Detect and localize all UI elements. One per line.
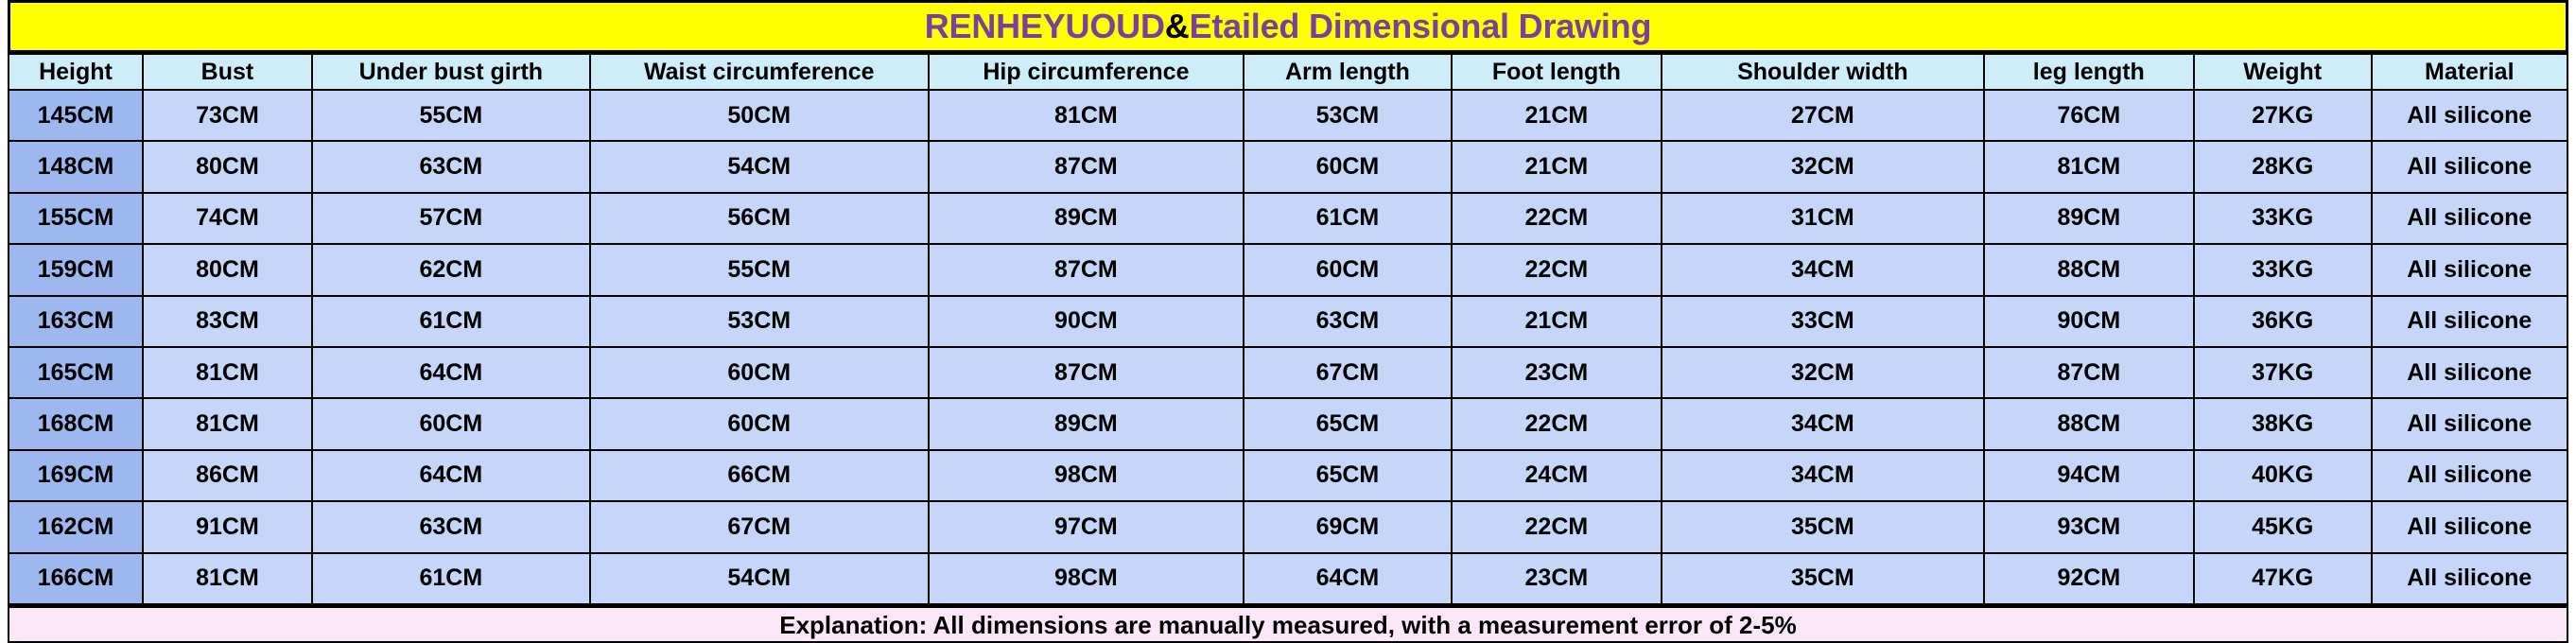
table-cell: 27CM <box>1662 90 1984 141</box>
table-cell: 32CM <box>1662 141 1984 192</box>
column-header-height: Height <box>9 54 143 90</box>
column-header-material: Material <box>2372 54 2567 90</box>
table-cell: 69CM <box>1244 501 1452 552</box>
table-cell: 98CM <box>929 450 1244 501</box>
table-cell: 54CM <box>590 553 929 604</box>
table-cell: 65CM <box>1244 398 1452 449</box>
table-cell: 55CM <box>590 244 929 295</box>
table-cell: 81CM <box>143 398 312 449</box>
table-cell: 35CM <box>1662 553 1984 604</box>
table-cell: 23CM <box>1452 553 1662 604</box>
table-cell: 81CM <box>143 553 312 604</box>
table-cell: 169CM <box>9 450 143 501</box>
table-cell: 87CM <box>1984 347 2194 398</box>
column-header-hip-circumference: Hip circumference <box>929 54 1244 90</box>
table-cell: 60CM <box>590 347 929 398</box>
table-cell: 90CM <box>1984 296 2194 347</box>
table-cell: 87CM <box>929 141 1244 192</box>
explanation-bar: Explanation: All dimensions are manually… <box>8 605 2568 643</box>
column-header-shoulder-width: Shoulder width <box>1662 54 1984 90</box>
table-cell: All silicone <box>2372 347 2567 398</box>
column-header-leg-length: leg length <box>1984 54 2194 90</box>
table-cell: 60CM <box>590 398 929 449</box>
table-cell: 64CM <box>1244 553 1452 604</box>
table-cell: 55CM <box>312 90 590 141</box>
table-row: 165CM81CM64CM60CM87CM67CM23CM32CM87CM37K… <box>9 347 2567 398</box>
table-cell: 98CM <box>929 553 1244 604</box>
table-cell: All silicone <box>2372 553 2567 604</box>
column-header-under-bust-girth: Under bust girth <box>312 54 590 90</box>
table-cell: 88CM <box>1984 398 2194 449</box>
title-subject: Etailed Dimensional Drawing <box>1190 7 1652 45</box>
table-cell: 159CM <box>9 244 143 295</box>
table-cell: 162CM <box>9 501 143 552</box>
table-header: Height Bust Under bust girth Waist circu… <box>9 54 2567 90</box>
table-cell: 74CM <box>143 193 312 244</box>
table-row: 168CM81CM60CM60CM89CM65CM22CM34CM88CM38K… <box>9 398 2567 449</box>
table-cell: All silicone <box>2372 244 2567 295</box>
table-row: 166CM81CM61CM54CM98CM64CM23CM35CM92CM47K… <box>9 553 2567 604</box>
table-cell: 57CM <box>312 193 590 244</box>
table-cell: 54CM <box>590 141 929 192</box>
table-cell: 89CM <box>1984 193 2194 244</box>
table-cell: 81CM <box>929 90 1244 141</box>
table-cell: 53CM <box>1244 90 1452 141</box>
table-cell: 165CM <box>9 347 143 398</box>
table-cell: 88CM <box>1984 244 2194 295</box>
title-brand: RENHEYUOUD <box>925 7 1165 45</box>
table-cell: 80CM <box>143 141 312 192</box>
table-cell: 62CM <box>312 244 590 295</box>
table-cell: 90CM <box>929 296 1244 347</box>
table-cell: 64CM <box>312 450 590 501</box>
table-cell: 163CM <box>9 296 143 347</box>
table-cell: 64CM <box>312 347 590 398</box>
table-cell: 27KG <box>2194 90 2372 141</box>
table-cell: 21CM <box>1452 90 1662 141</box>
table-cell: All silicone <box>2372 90 2567 141</box>
table-row: 148CM80CM63CM54CM87CM60CM21CM32CM81CM28K… <box>9 141 2567 192</box>
table-cell: 73CM <box>143 90 312 141</box>
table-cell: 34CM <box>1662 450 1984 501</box>
table-cell: 61CM <box>312 553 590 604</box>
table-cell: 21CM <box>1452 141 1662 192</box>
table-cell: 168CM <box>9 398 143 449</box>
table-cell: 61CM <box>312 296 590 347</box>
table-cell: 92CM <box>1984 553 2194 604</box>
header-row: Height Bust Under bust girth Waist circu… <box>9 54 2567 90</box>
table-cell: 97CM <box>929 501 1244 552</box>
table-row: 162CM91CM63CM67CM97CM69CM22CM35CM93CM45K… <box>9 501 2567 552</box>
table-cell: 36KG <box>2194 296 2372 347</box>
dimension-table: Height Bust Under bust girth Waist circu… <box>8 53 2568 605</box>
table-cell: 81CM <box>143 347 312 398</box>
table-cell: All silicone <box>2372 398 2567 449</box>
table-cell: 91CM <box>143 501 312 552</box>
table-cell: 47KG <box>2194 553 2372 604</box>
table-cell: 80CM <box>143 244 312 295</box>
table-cell: 28KG <box>2194 141 2372 192</box>
table-cell: 33CM <box>1662 296 1984 347</box>
table-cell: 21CM <box>1452 296 1662 347</box>
table-body: 145CM73CM55CM50CM81CM53CM21CM27CM76CM27K… <box>9 90 2567 604</box>
table-cell: 63CM <box>1244 296 1452 347</box>
table-cell: 145CM <box>9 90 143 141</box>
table-cell: 40KG <box>2194 450 2372 501</box>
column-header-weight: Weight <box>2194 54 2372 90</box>
explanation-text: Explanation: All dimensions are manually… <box>779 613 1796 637</box>
dimension-table-wrap: Height Bust Under bust girth Waist circu… <box>8 53 2568 605</box>
table-cell: All silicone <box>2372 141 2567 192</box>
column-header-arm-length: Arm length <box>1244 54 1452 90</box>
table-cell: 67CM <box>1244 347 1452 398</box>
column-header-waist-circumference: Waist circumference <box>590 54 929 90</box>
table-cell: 31CM <box>1662 193 1984 244</box>
table-cell: 166CM <box>9 553 143 604</box>
table-cell: 67CM <box>590 501 929 552</box>
table-cell: 76CM <box>1984 90 2194 141</box>
table-cell: 89CM <box>929 398 1244 449</box>
table-cell: 33KG <box>2194 193 2372 244</box>
table-cell: 33KG <box>2194 244 2372 295</box>
table-cell: 45KG <box>2194 501 2372 552</box>
table-cell: 32CM <box>1662 347 1984 398</box>
table-cell: 50CM <box>590 90 929 141</box>
table-cell: 81CM <box>1984 141 2194 192</box>
table-cell: 63CM <box>312 501 590 552</box>
table-cell: 22CM <box>1452 193 1662 244</box>
column-header-foot-length: Foot length <box>1452 54 1662 90</box>
table-cell: 86CM <box>143 450 312 501</box>
table-cell: 148CM <box>9 141 143 192</box>
table-cell: 34CM <box>1662 398 1984 449</box>
table-cell: 83CM <box>143 296 312 347</box>
table-cell: 53CM <box>590 296 929 347</box>
table-row: 155CM74CM57CM56CM89CM61CM22CM31CM89CM33K… <box>9 193 2567 244</box>
table-cell: 65CM <box>1244 450 1452 501</box>
table-cell: 94CM <box>1984 450 2194 501</box>
table-row: 159CM80CM62CM55CM87CM60CM22CM34CM88CM33K… <box>9 244 2567 295</box>
table-row: 169CM86CM64CM66CM98CM65CM24CM34CM94CM40K… <box>9 450 2567 501</box>
table-cell: 56CM <box>590 193 929 244</box>
table-cell: All silicone <box>2372 501 2567 552</box>
table-row: 145CM73CM55CM50CM81CM53CM21CM27CM76CM27K… <box>9 90 2567 141</box>
table-cell: 60CM <box>312 398 590 449</box>
table-row: 163CM83CM61CM53CM90CM63CM21CM33CM90CM36K… <box>9 296 2567 347</box>
table-cell: All silicone <box>2372 450 2567 501</box>
table-cell: 60CM <box>1244 244 1452 295</box>
title-banner: RENHEYUOUD&Etailed Dimensional Drawing <box>8 0 2568 53</box>
table-cell: 38KG <box>2194 398 2372 449</box>
table-cell: 22CM <box>1452 244 1662 295</box>
table-cell: 34CM <box>1662 244 1984 295</box>
table-cell: 61CM <box>1244 193 1452 244</box>
table-cell: All silicone <box>2372 193 2567 244</box>
table-cell: 60CM <box>1244 141 1452 192</box>
table-cell: 37KG <box>2194 347 2372 398</box>
table-cell: 22CM <box>1452 398 1662 449</box>
table-cell: 87CM <box>929 347 1244 398</box>
table-cell: All silicone <box>2372 296 2567 347</box>
title-ampersand: & <box>1165 7 1190 45</box>
table-cell: 23CM <box>1452 347 1662 398</box>
table-cell: 155CM <box>9 193 143 244</box>
table-cell: 63CM <box>312 141 590 192</box>
page-title: RENHEYUOUD&Etailed Dimensional Drawing <box>925 9 1652 43</box>
table-cell: 24CM <box>1452 450 1662 501</box>
size-chart-sheet: RENHEYUOUD&Etailed Dimensional Drawing H… <box>0 0 2576 643</box>
table-cell: 87CM <box>929 244 1244 295</box>
table-cell: 66CM <box>590 450 929 501</box>
table-cell: 93CM <box>1984 501 2194 552</box>
table-cell: 35CM <box>1662 501 1984 552</box>
table-cell: 89CM <box>929 193 1244 244</box>
column-header-bust: Bust <box>143 54 312 90</box>
table-cell: 22CM <box>1452 501 1662 552</box>
